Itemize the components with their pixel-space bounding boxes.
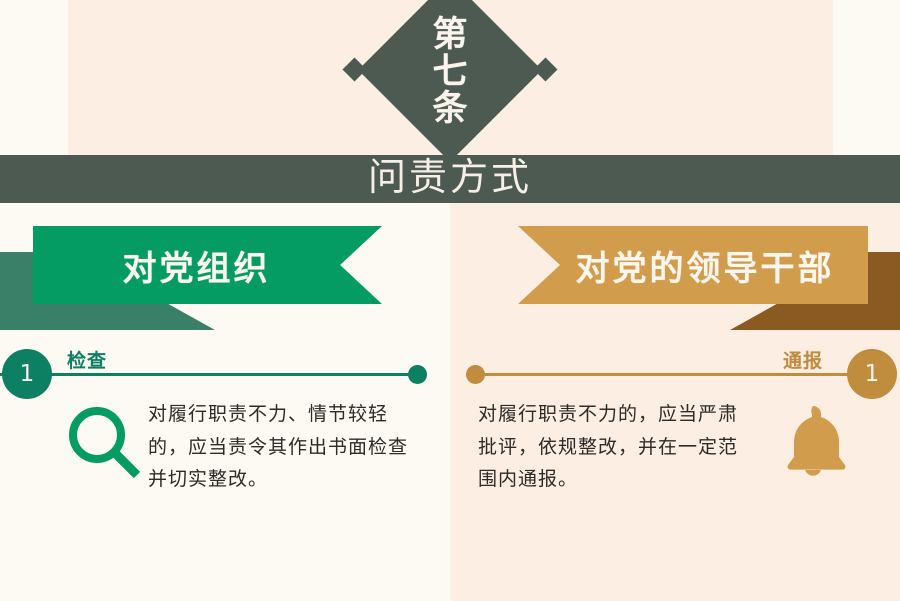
- body-text-left: 对履行职责不力、情节较轻的，应当责令其作出书面检查并切实整改。: [148, 398, 423, 496]
- article-emblem-char-3: 条: [432, 91, 467, 127]
- search-icon: [66, 404, 144, 482]
- slide-canvas: 第 七 条 问责方式 对党组织 对党的领导干部 1 检查 1 通报: [0, 0, 900, 601]
- ribbon-label-right: 对党的领导干部: [576, 241, 835, 290]
- timeline-right-line: [470, 373, 890, 376]
- timeline-right: 1 通报: [0, 373, 900, 375]
- article-emblem-char-2: 七: [432, 54, 467, 90]
- ribbon-party-leading-cadres: 对党的领导干部: [518, 226, 868, 304]
- article-emblem-text: 第 七 条: [415, 8, 485, 136]
- body-text-right: 对履行职责不力的，应当严肃批评，依规整改，并在一定范围内通报。: [478, 398, 750, 496]
- timeline-left-label: 检查: [67, 346, 107, 373]
- ribbon-label-left: 对党组织: [123, 241, 271, 290]
- timeline-right-number-badge: 1: [847, 349, 897, 399]
- ribbon-gold-tail: [868, 252, 900, 330]
- section-title-band: [0, 155, 900, 203]
- timeline-right-label: 通报: [783, 346, 823, 373]
- article-emblem-char-1: 第: [432, 17, 467, 53]
- timeline-right-end-dot-icon: [466, 365, 485, 384]
- bell-icon: [772, 400, 854, 482]
- ribbon-party-organization: 对党组织: [33, 226, 382, 304]
- timeline-right-number: 1: [865, 361, 880, 387]
